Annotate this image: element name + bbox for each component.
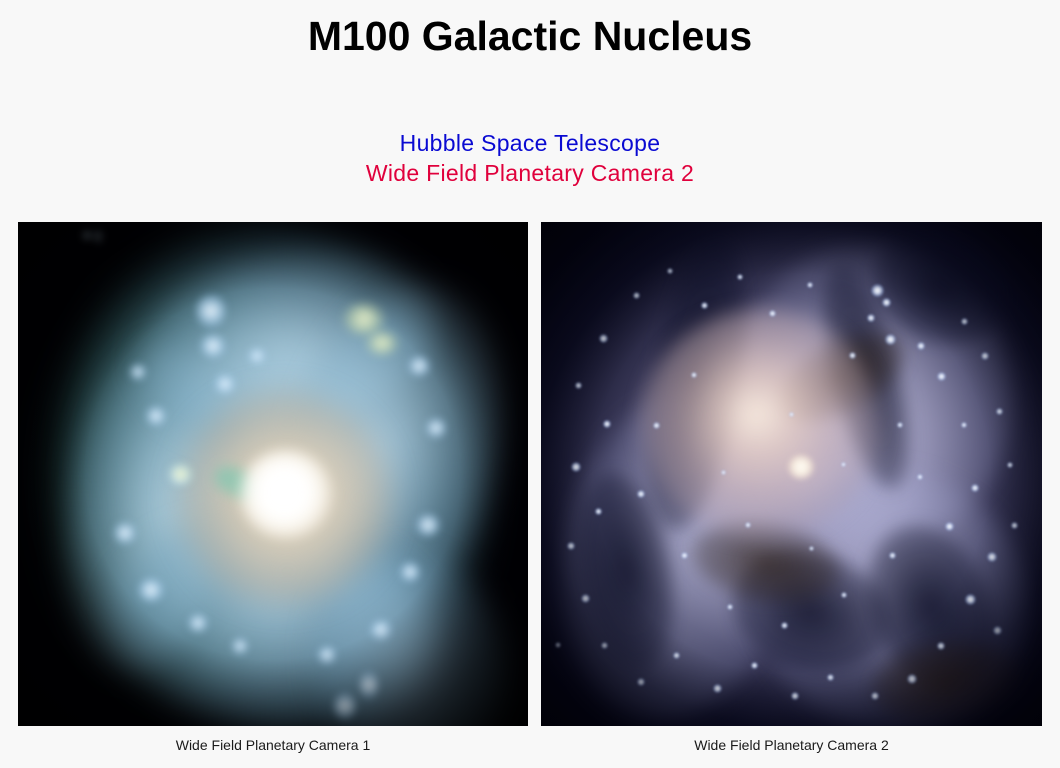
image-panel-wfpc1: [18, 222, 528, 726]
panel-vignette: [18, 222, 528, 726]
caption-wfpc2: Wide Field Planetary Camera 2: [541, 737, 1042, 753]
galaxy-image-wfpc2: [541, 222, 1042, 726]
image-panel-wfpc2: [541, 222, 1042, 726]
caption-wfpc1: Wide Field Planetary Camera 1: [18, 737, 528, 753]
subtitle-instrument: Wide Field Planetary Camera 2: [0, 158, 1060, 188]
galaxy-image-wfpc1: [18, 222, 528, 726]
panel-vignette: [541, 222, 1042, 726]
subtitle-telescope: Hubble Space Telescope: [0, 128, 1060, 158]
page-title: M100 Galactic Nucleus: [0, 12, 1060, 60]
subtitle-block: Hubble Space Telescope Wide Field Planet…: [0, 128, 1060, 188]
